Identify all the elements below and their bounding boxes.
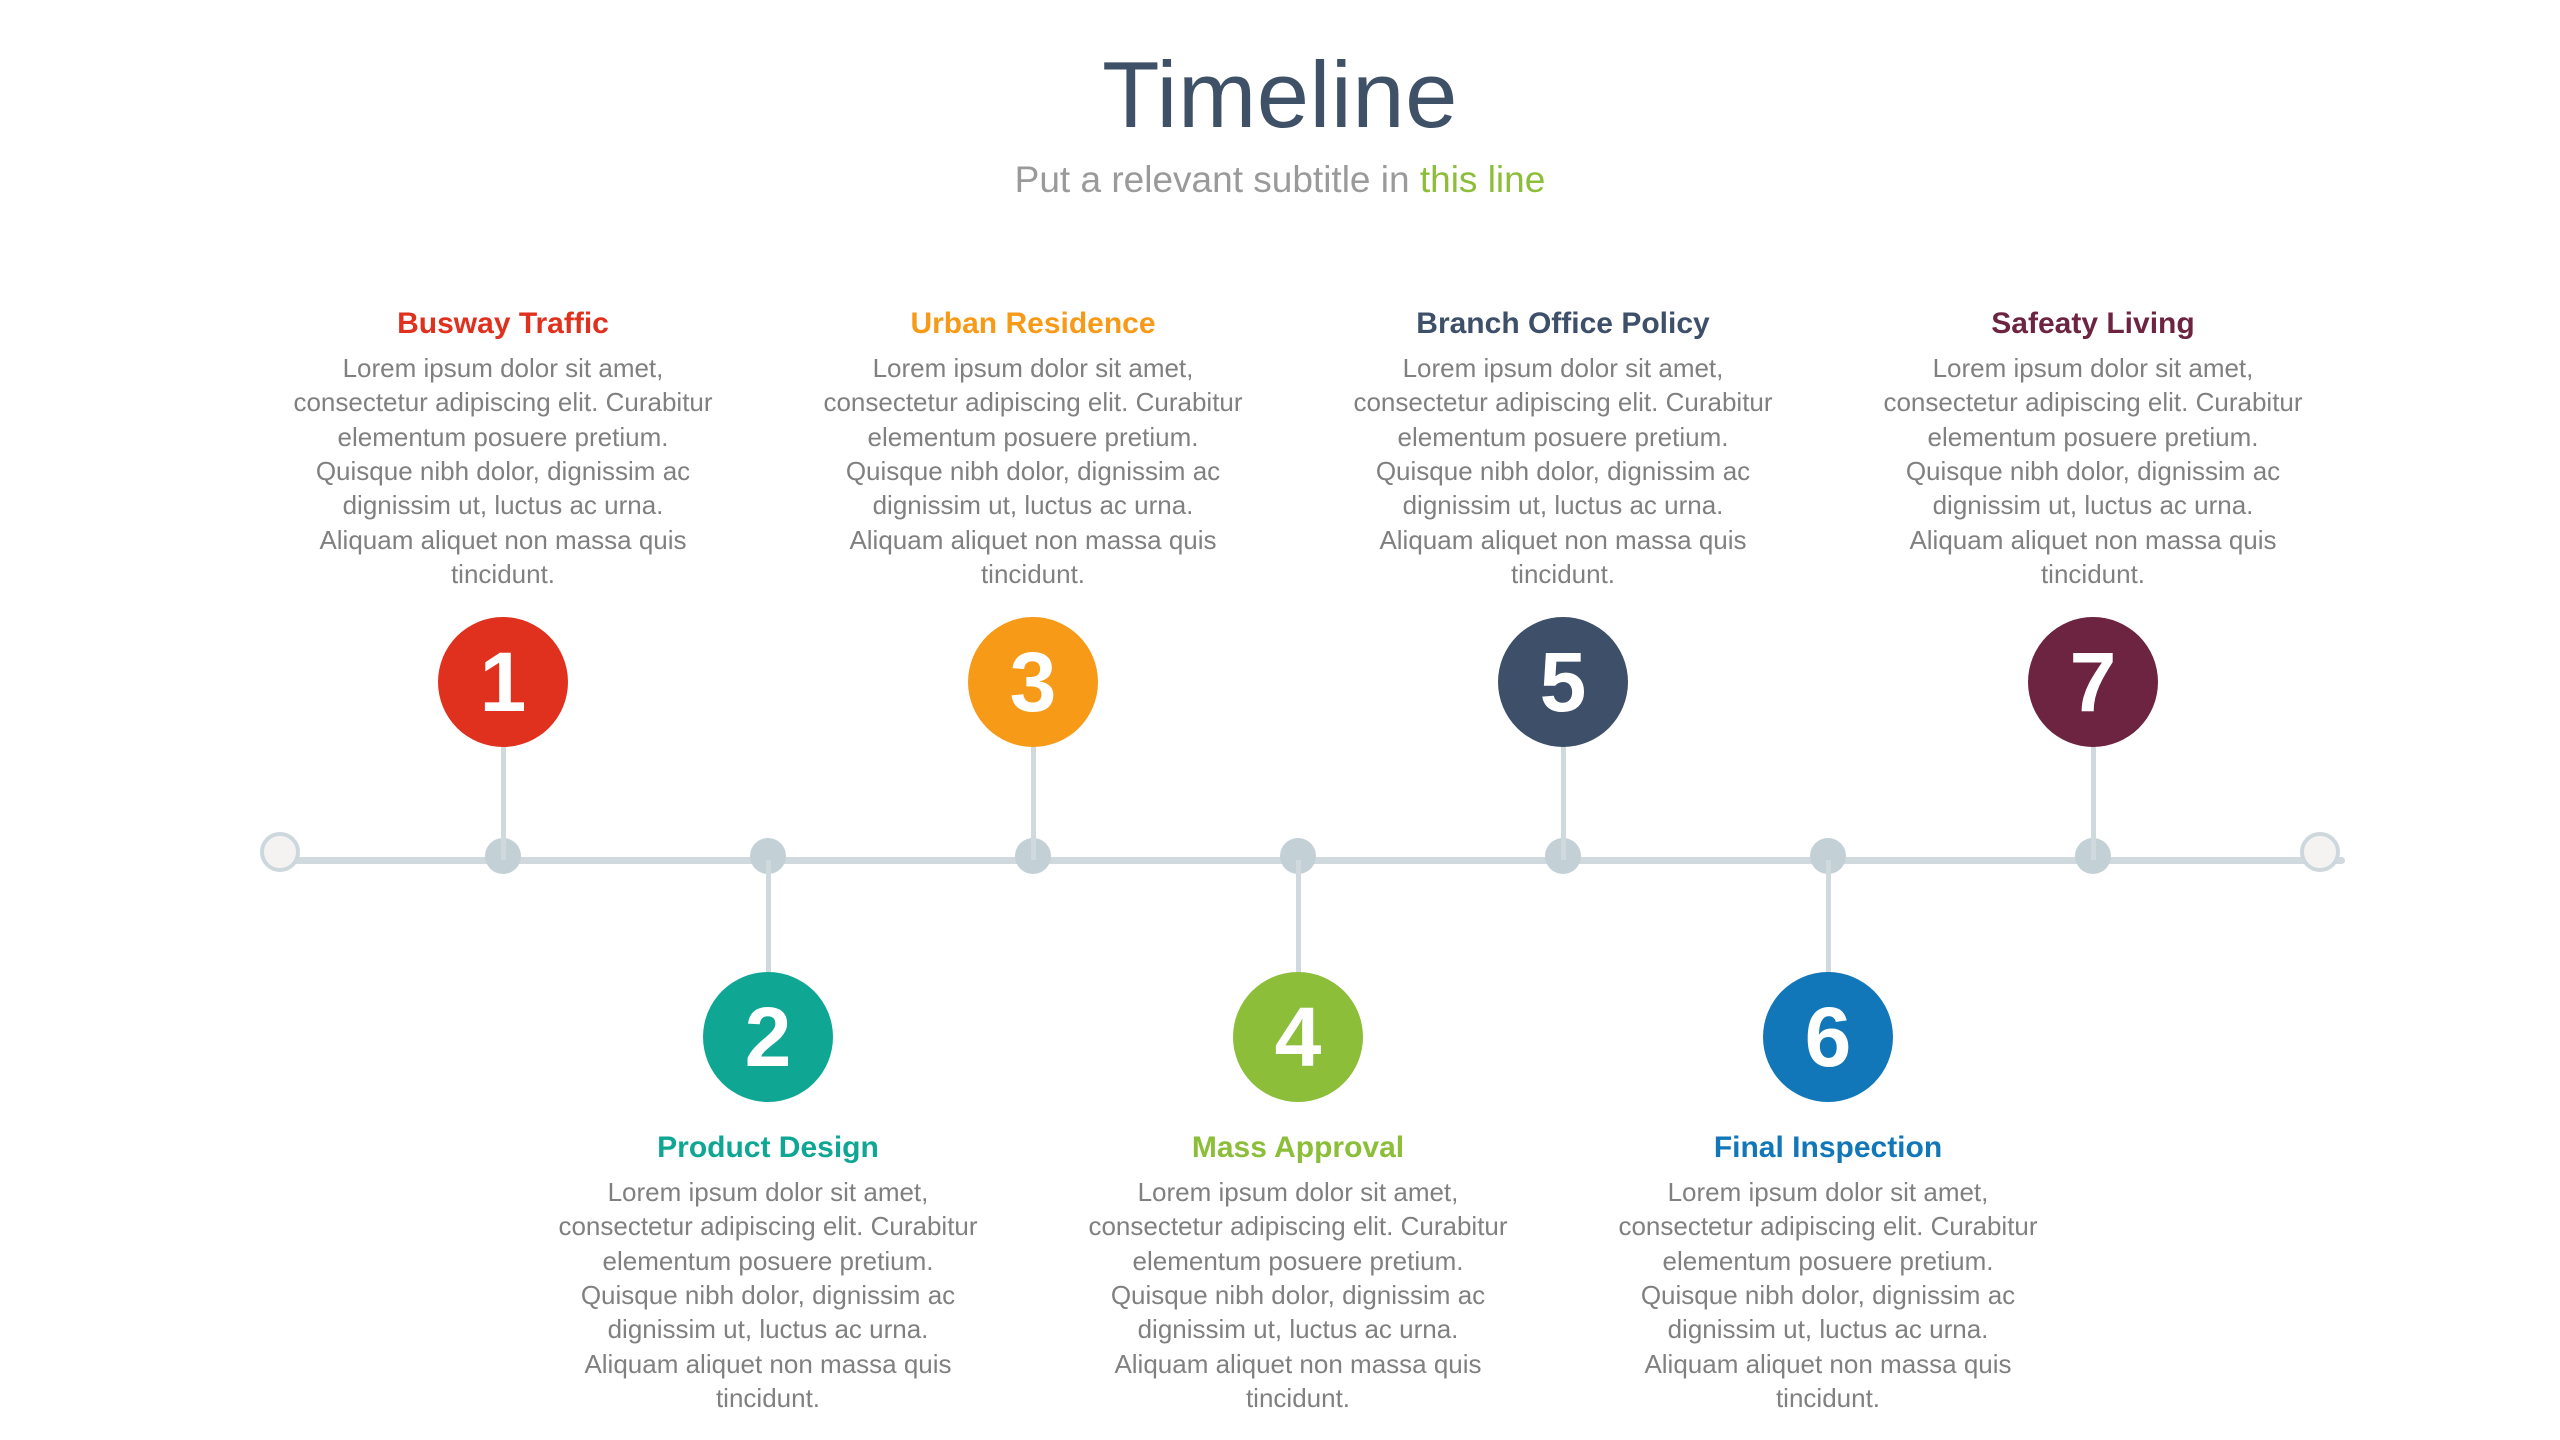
timeline-connector-stem (2091, 743, 2096, 860)
timeline-step-bubble-4[interactable]: 4 (1233, 972, 1363, 1102)
timeline-step-body: Lorem ipsum dolor sit amet, consectetur … (1088, 1175, 1508, 1415)
timeline-step-bubble-1[interactable]: 1 (438, 617, 568, 747)
timeline-step-bubble-5[interactable]: 5 (1498, 617, 1628, 747)
timeline-step-body: Lorem ipsum dolor sit amet, consectetur … (1618, 1175, 2038, 1415)
timeline-step-title: Urban Residence (823, 306, 1243, 342)
timeline-step-title: Busway Traffic (293, 306, 713, 342)
timeline-step-block-3: Urban ResidenceLorem ipsum dolor sit ame… (823, 306, 1243, 591)
timeline-step-block-1: Busway TrafficLorem ipsum dolor sit amet… (293, 306, 713, 591)
timeline-step-title: Safeaty Living (1883, 306, 2303, 342)
timeline-step-bubble-3[interactable]: 3 (968, 617, 1098, 747)
timeline-step-bubble-6[interactable]: 6 (1763, 972, 1893, 1102)
slide-header: Timeline Put a relevant subtitle in this… (0, 44, 2560, 202)
timeline-step-block-4: Mass ApprovalLorem ipsum dolor sit amet,… (1088, 1130, 1508, 1415)
timeline-connector-stem (1561, 743, 1566, 860)
timeline-connector-stem (501, 743, 506, 860)
timeline-step-block-6: Final InspectionLorem ipsum dolor sit am… (1618, 1130, 2038, 1415)
timeline-step-title: Branch Office Policy (1353, 306, 1773, 342)
timeline-step-title: Mass Approval (1088, 1130, 1508, 1166)
timeline-endpoint-end (2300, 832, 2340, 872)
subtitle-plain-text: Put a relevant subtitle in (1015, 159, 1420, 200)
page-title: Timeline (0, 44, 2560, 146)
timeline-step-block-2: Product DesignLorem ipsum dolor sit amet… (558, 1130, 978, 1415)
page-subtitle: Put a relevant subtitle in this line (0, 158, 2560, 202)
timeline-step-body: Lorem ipsum dolor sit amet, consectetur … (293, 351, 713, 591)
timeline-connector-stem (1031, 743, 1036, 860)
timeline-step-bubble-2[interactable]: 2 (703, 972, 833, 1102)
timeline-step-body: Lorem ipsum dolor sit amet, consectetur … (1883, 351, 2303, 591)
timeline-step-block-5: Branch Office PolicyLorem ipsum dolor si… (1353, 306, 1773, 591)
timeline-step-block-7: Safeaty LivingLorem ipsum dolor sit amet… (1883, 306, 2303, 591)
timeline-connector-stem (1826, 860, 1831, 976)
timeline-connector-stem (1296, 860, 1301, 976)
timeline-step-body: Lorem ipsum dolor sit amet, consectetur … (823, 351, 1243, 591)
timeline-endpoint-start (260, 832, 300, 872)
timeline-step-title: Final Inspection (1618, 1130, 2038, 1166)
timeline-slide: Timeline Put a relevant subtitle in this… (0, 0, 2560, 1440)
timeline-step-bubble-7[interactable]: 7 (2028, 617, 2158, 747)
timeline-step-body: Lorem ipsum dolor sit amet, consectetur … (1353, 351, 1773, 591)
timeline-connector-stem (766, 860, 771, 976)
timeline-step-title: Product Design (558, 1130, 978, 1166)
subtitle-accent-text: this line (1420, 159, 1545, 200)
timeline-step-body: Lorem ipsum dolor sit amet, consectetur … (558, 1175, 978, 1415)
